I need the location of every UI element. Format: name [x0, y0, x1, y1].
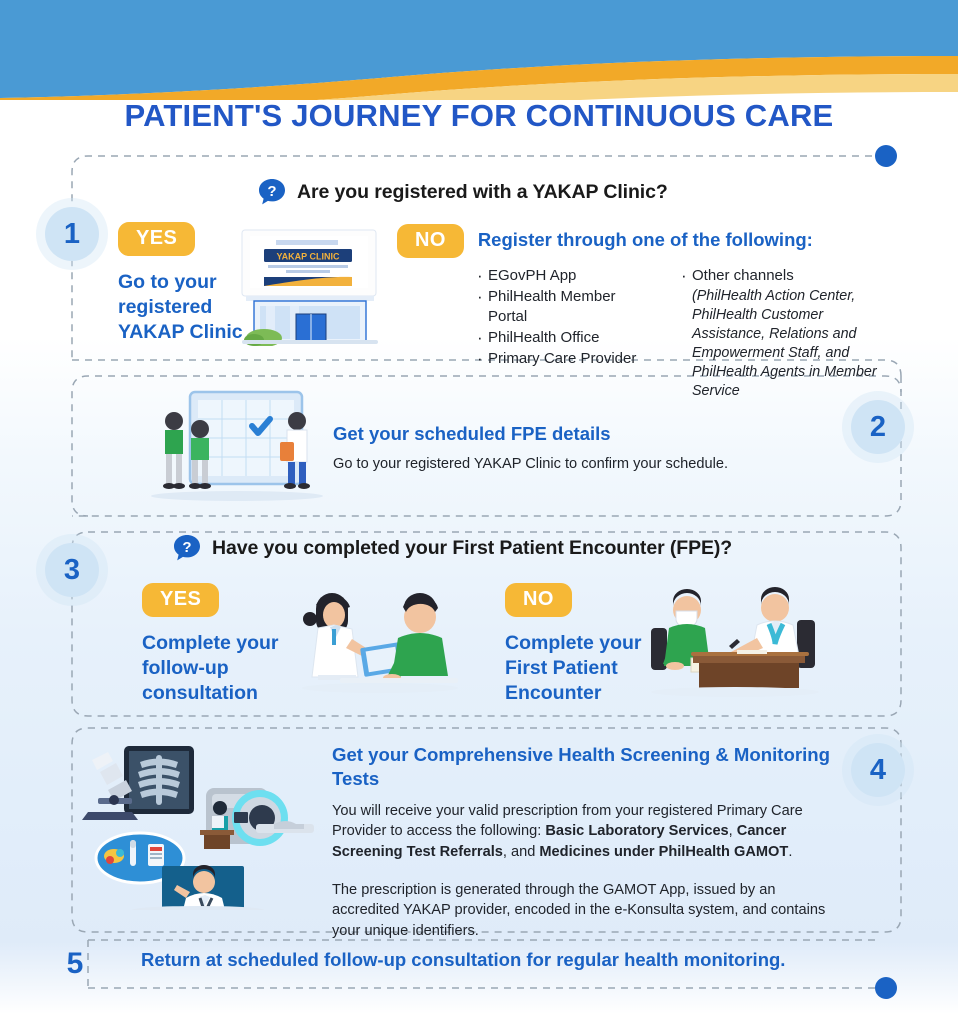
no-badge-step-3: NO [505, 583, 572, 617]
list-item: PhilHealth Member Portal [475, 287, 655, 327]
step-3-question-text: Have you completed your First Patient En… [212, 537, 732, 560]
step-4-heading: Get your Comprehensive Health Screening … [332, 743, 844, 791]
step-number-1: 1 [45, 207, 99, 261]
svg-text:?: ? [182, 539, 191, 556]
step-1-no-bullets-left: EGovPH App PhilHealth Member Portal Phil… [475, 266, 655, 401]
step-3-question-row: ? Have you completed your First Patient … [172, 533, 732, 563]
step-number-2: 2 [851, 400, 905, 454]
svg-text:?: ? [267, 183, 276, 200]
yakap-clinic-building-illustration: YAKAP CLINIC [234, 226, 386, 346]
step-5-text: Return at scheduled follow-up consultati… [141, 948, 861, 972]
step-1-no-group: NO Register through one of the following… [397, 224, 894, 401]
list-item: Primary Care Provider [475, 349, 655, 369]
step-1-no-bullets-right: Other channels [679, 266, 894, 286]
step-2-text-group: Get your scheduled FPE details Go to you… [333, 422, 813, 474]
list-item: EGovPH App [475, 266, 655, 286]
step-1-question-row: ? Are you registered with a YAKAP Clinic… [257, 177, 668, 207]
plain-text: . [788, 844, 792, 860]
track-start-dot [875, 145, 897, 167]
step-4-paragraph-2: The prescription is generated through th… [332, 880, 844, 942]
svg-text:YAKAP CLINIC: YAKAP CLINIC [276, 252, 340, 262]
doctor-at-desk-with-patient-illustration [645, 580, 825, 698]
step-number-3: 3 [45, 543, 99, 597]
no-badge-step-1: NO [397, 224, 464, 258]
step-2-heading: Get your scheduled FPE details [333, 422, 813, 446]
plain-text: , and [503, 844, 540, 860]
step-number-4: 4 [851, 743, 905, 797]
step-number-5: 5 [48, 937, 102, 991]
list-item: PhilHealth Office [475, 328, 655, 348]
page-title: PATIENT'S JOURNEY FOR CONTINUOUS CARE [0, 98, 958, 134]
emphasis-text: Basic Laboratory Services [545, 823, 728, 839]
infographic-page: PATIENT'S JOURNEY FOR CONTINUOUS CARE 1 [0, 0, 958, 1024]
doctor-with-clipboard-and-patient-illustration [280, 583, 460, 698]
step-4-paragraph-1: You will receive your valid prescription… [332, 801, 844, 863]
step-3-no-text: Complete your First Patient Encounter [505, 631, 665, 706]
step-4-text-group: Get your Comprehensive Health Screening … [332, 743, 844, 942]
step-1-no-heading: Register through one of the following: [478, 224, 813, 252]
header-wave-banner [0, 0, 958, 100]
yes-badge-step-3: YES [142, 583, 219, 617]
question-mark-bubble-icon: ? [257, 177, 287, 207]
question-mark-bubble-icon: ? [172, 533, 202, 563]
list-item: Other channels [679, 266, 894, 286]
plain-text: , [729, 823, 737, 839]
emphasis-text: Medicines under PhilHealth GAMOT [539, 844, 788, 860]
step-3-no-group: NO Complete your First Patient Encounter [505, 583, 665, 706]
yes-badge-step-1: YES [118, 222, 195, 256]
track-end-dot [875, 977, 897, 999]
header-wave-svg [0, 0, 958, 100]
medical-imaging-lab-illustration [78, 740, 316, 910]
step-1-question-text: Are you registered with a YAKAP Clinic? [297, 181, 668, 204]
step-1-no-note: (PhilHealth Action Center, PhilHealth Cu… [692, 287, 894, 401]
calendar-schedule-illustration [142, 386, 332, 504]
step-2-body: Go to your registered YAKAP Clinic to co… [333, 454, 813, 475]
